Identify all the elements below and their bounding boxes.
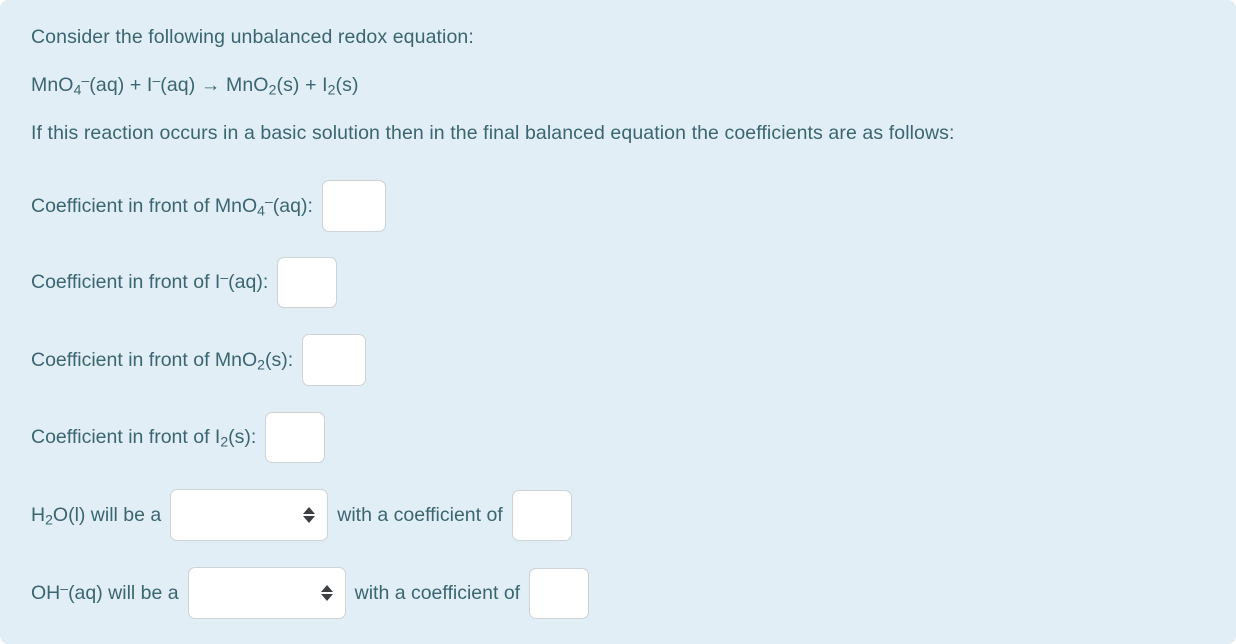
coefficient-input-permanganate[interactable]	[322, 180, 386, 232]
coefficient-input-water[interactable]	[512, 490, 572, 541]
equation-product-manganese-dioxide: MnO2(s)	[226, 74, 300, 96]
coefficient-label-permanganate: Coefficient in front of MnO4–(aq):	[31, 195, 322, 218]
coefficient-text-water: with a coefficient of	[328, 504, 511, 527]
label-text: Coefficient in front of MnO	[31, 195, 257, 217]
instruction-text: If this reaction occurs in a basic solut…	[31, 122, 955, 145]
label-suffix: (aq):	[228, 271, 268, 293]
equation-text: MnO	[226, 74, 269, 96]
label-suffix: O(l) will be a	[53, 504, 161, 526]
label-text: OH	[31, 582, 60, 604]
equation-product-iodine: I2(s)	[322, 74, 358, 96]
equation-subscript: 2	[328, 81, 336, 97]
redox-equation: MnO4–(aq) + I–(aq) → MnO2(s) + I2(s)	[31, 74, 359, 97]
coefficient-row-manganese-dioxide: Coefficient in front of MnO2(s):	[31, 334, 366, 386]
species-label-hydroxide: OH–(aq) will be a	[31, 582, 188, 605]
coefficient-row-iodide: Coefficient in front of I–(aq):	[31, 257, 337, 308]
coefficient-input-iodide[interactable]	[277, 257, 337, 308]
coefficient-label-manganese-dioxide: Coefficient in front of MnO2(s):	[31, 349, 302, 372]
coefficient-label-iodine: Coefficient in front of I2(s):	[31, 426, 265, 449]
label-text: H	[31, 504, 45, 526]
coefficient-text-hydroxide: with a coefficient of	[346, 582, 529, 605]
label-suffix: (aq):	[273, 195, 313, 217]
label-text: Coefficient in front of I	[31, 271, 220, 293]
coefficient-row-iodine: Coefficient in front of I2(s):	[31, 412, 325, 463]
species-select-wrapper-water: reactant product	[170, 489, 328, 541]
label-suffix: (aq) will be a	[68, 582, 179, 604]
equation-plus: +	[305, 74, 317, 96]
coefficient-input-hydroxide[interactable]	[529, 568, 589, 619]
label-suffix: (s):	[265, 349, 293, 371]
species-select-water[interactable]: reactant product	[170, 489, 328, 541]
equation-text: MnO	[31, 74, 74, 96]
label-subscript: 4	[257, 202, 265, 218]
equation-state: (aq)	[160, 74, 195, 96]
label-suffix: (s):	[228, 426, 256, 448]
coefficient-row-permanganate: Coefficient in front of MnO4–(aq):	[31, 180, 386, 232]
label-charge: –	[265, 193, 273, 209]
equation-state: (s)	[336, 74, 359, 96]
species-label-water: H2O(l) will be a	[31, 504, 170, 527]
label-subscript: 2	[220, 433, 228, 449]
species-row-hydroxide: OH–(aq) will be a reactant product with …	[31, 567, 589, 619]
species-select-wrapper-hydroxide: reactant product	[188, 567, 346, 619]
equation-state: (aq)	[89, 74, 124, 96]
reaction-arrow-icon: →	[201, 74, 221, 96]
equation-reactant-permanganate: MnO4–(aq)	[31, 74, 124, 96]
equation-plus: +	[130, 74, 142, 96]
question-panel: Consider the following unbalanced redox …	[0, 0, 1236, 644]
label-charge: –	[60, 580, 68, 596]
label-charge: –	[220, 269, 228, 285]
equation-reactant-iodide: I–(aq)	[147, 74, 195, 96]
coefficient-input-iodine[interactable]	[265, 412, 325, 463]
intro-text: Consider the following unbalanced redox …	[31, 26, 474, 49]
label-text: Coefficient in front of MnO	[31, 349, 257, 371]
species-row-water: H2O(l) will be a reactant product with a…	[31, 489, 572, 541]
equation-state: (s)	[276, 74, 299, 96]
label-text: Coefficient in front of I	[31, 426, 220, 448]
species-select-hydroxide[interactable]: reactant product	[188, 567, 346, 619]
coefficient-input-manganese-dioxide[interactable]	[302, 334, 366, 386]
coefficient-label-iodide: Coefficient in front of I–(aq):	[31, 271, 277, 294]
label-subscript: 2	[45, 511, 53, 527]
label-subscript: 2	[257, 356, 265, 372]
